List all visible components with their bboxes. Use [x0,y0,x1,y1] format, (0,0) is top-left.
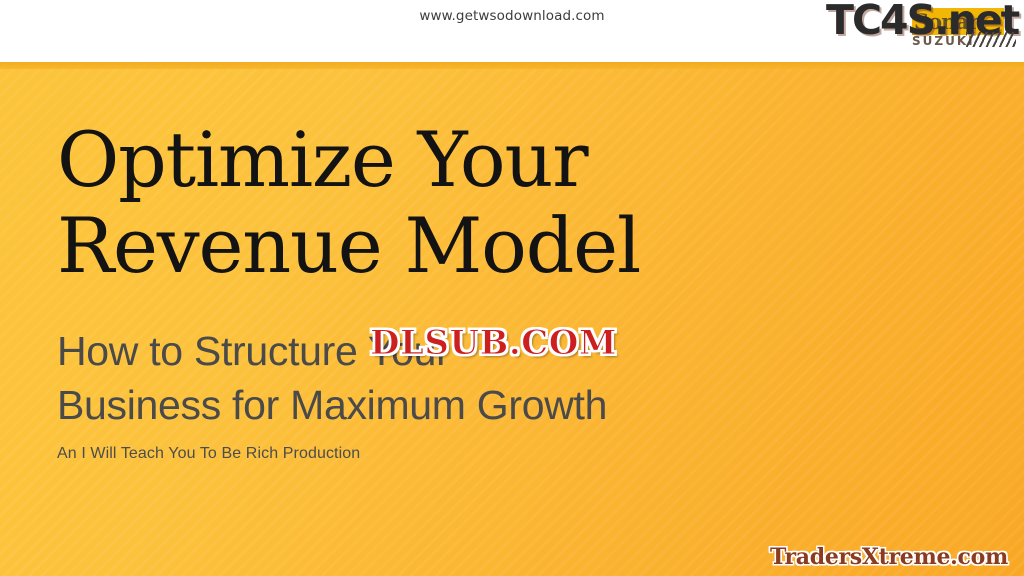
subtitle-line-2: Business for Maximum Growth [57,378,817,432]
title-line-1: Optimize Your [57,117,757,203]
slide-title: Optimize Your Revenue Model [57,117,757,289]
tc4s-logo: Sonar TC4S.net SUZUKI [814,0,1022,54]
slide-credit-line: An I Will Teach You To Be Rich Productio… [57,445,360,463]
logo-hatch-decoration [966,32,1016,47]
presentation-slide: www.getwsodownload.com Sonar TC4S.net SU… [0,0,1024,576]
title-line-2: Revenue Model [57,203,757,289]
dlsub-watermark: DLSUB.COM [370,323,617,363]
panel-top-edge-stripe [0,62,1024,69]
slide-body-panel: Optimize Your Revenue Model How to Struc… [0,62,1024,576]
tradersxtreme-watermark: TradersXtreme.com [770,544,1008,570]
